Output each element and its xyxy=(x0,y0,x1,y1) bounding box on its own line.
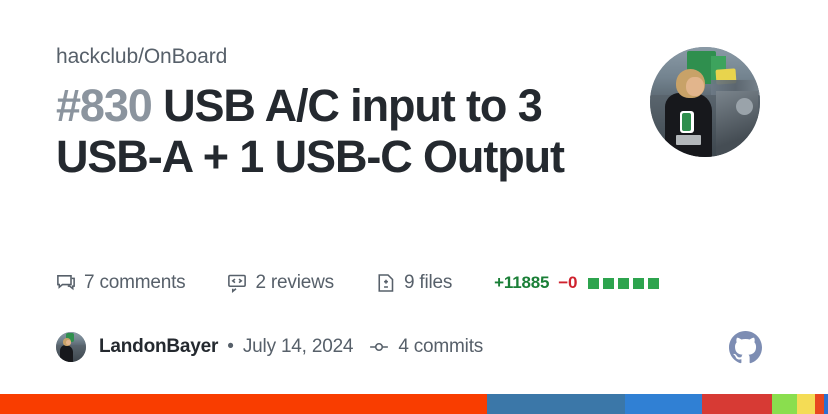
meta-reviews-label: 2 reviews xyxy=(255,272,333,294)
footer-row: LandonBayer • July 14, 2024 4 commits xyxy=(56,332,483,362)
diffstat: +11885 −0 xyxy=(494,273,663,293)
diffstat-block xyxy=(618,278,629,289)
bottom-color-bar xyxy=(0,394,828,414)
separator-dot: • xyxy=(227,336,234,358)
page-title: #830 USB A/C input to 3 USB-A + 1 USB-C … xyxy=(56,81,616,182)
diffstat-blocks xyxy=(588,278,663,289)
comment-icon xyxy=(56,273,76,293)
file-diff-icon xyxy=(376,273,396,293)
avatar-detail-logo-inner xyxy=(682,113,691,131)
diffstat-deletions: −0 xyxy=(558,273,577,293)
avatar-detail-face xyxy=(686,77,704,97)
commits-label: 4 commits xyxy=(398,336,483,358)
meta-files[interactable]: 9 files xyxy=(376,272,452,294)
diffstat-block xyxy=(633,278,644,289)
code-review-icon xyxy=(227,273,247,293)
color-bar-segment xyxy=(702,394,772,414)
git-commit-icon xyxy=(369,337,389,357)
header-block: hackclub/OnBoard #830 USB A/C input to 3… xyxy=(56,44,656,182)
diffstat-block xyxy=(603,278,614,289)
color-bar-segment xyxy=(625,394,702,414)
color-bar-segment xyxy=(815,394,824,414)
meta-reviews[interactable]: 2 reviews xyxy=(227,272,333,294)
color-bar-segment xyxy=(487,394,625,414)
diffstat-additions: +11885 xyxy=(494,273,549,293)
meta-comments-label: 7 comments xyxy=(84,272,185,294)
github-pr-preview-card: hackclub/OnBoard #830 USB A/C input to 3… xyxy=(0,0,828,414)
meta-files-label: 9 files xyxy=(404,272,452,294)
meta-row: 7 comments 2 reviews 9 files + xyxy=(56,272,663,294)
avatar-small-hoodie xyxy=(60,345,73,362)
issue-number: #830 xyxy=(56,80,152,131)
meta-comments[interactable]: 7 comments xyxy=(56,272,185,294)
color-bar-segment xyxy=(797,394,815,414)
avatar-small[interactable] xyxy=(56,332,86,362)
date-label: July 14, 2024 xyxy=(243,336,353,358)
color-bar-segment xyxy=(824,394,828,414)
color-bar-segment xyxy=(0,394,487,414)
author-name[interactable]: LandonBayer xyxy=(99,336,218,358)
diffstat-block xyxy=(648,278,659,289)
avatar[interactable] xyxy=(650,47,760,157)
diffstat-block xyxy=(588,278,599,289)
repo-breadcrumb[interactable]: hackclub/OnBoard xyxy=(56,44,656,69)
color-bar-segment xyxy=(772,394,797,414)
avatar-detail-number xyxy=(676,135,700,145)
github-octocat-icon xyxy=(729,331,762,364)
